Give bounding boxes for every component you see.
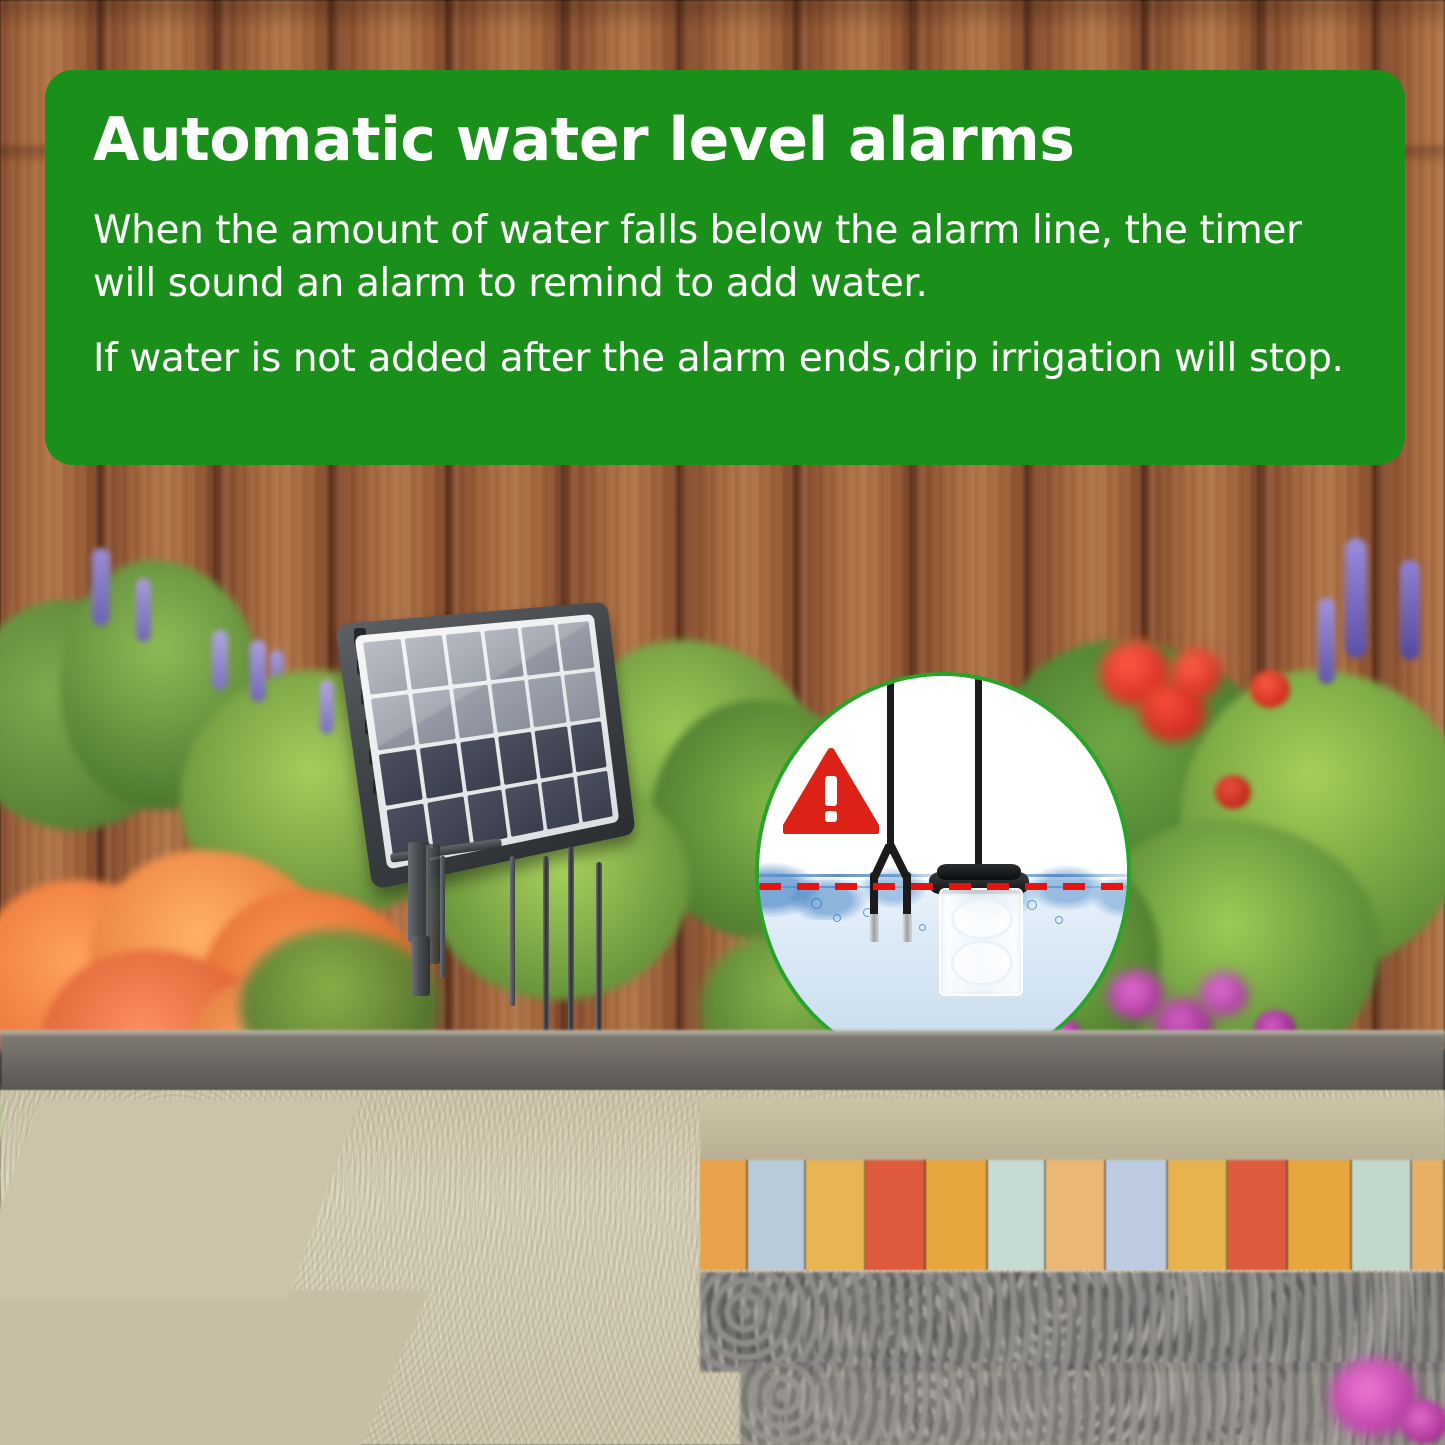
banner-paragraph-1: When the amount of water falls below the… xyxy=(93,204,1357,310)
alarm-line xyxy=(759,883,1127,890)
solar-panel xyxy=(330,606,670,906)
page-title: Automatic water level alarms xyxy=(93,110,1357,170)
product-marketing-image: Automatic water level alarms When the am… xyxy=(0,0,1445,1445)
decorative-tile-edging xyxy=(700,1158,1445,1270)
paving-band xyxy=(700,1098,1445,1160)
corner-flower xyxy=(1400,1400,1445,1444)
pump-intake-hole xyxy=(951,898,1013,940)
sensor-prong xyxy=(870,872,878,918)
sensor-prong xyxy=(903,872,911,918)
banner-paragraph-2: If water is not added after the alarm en… xyxy=(93,332,1357,385)
pump-cap-inner xyxy=(937,864,1021,880)
sensor-probe-cable xyxy=(887,676,894,854)
gravel-strip xyxy=(700,1272,1445,1372)
warning-triangle-icon xyxy=(783,748,879,834)
water-level-alarm-detail xyxy=(755,672,1131,1073)
pump-intake-hole xyxy=(951,940,1013,986)
fence-top-shadow xyxy=(0,0,1445,30)
sensor-prong-tip xyxy=(869,914,879,942)
sensor-prong-tip xyxy=(902,914,912,942)
pump-cable xyxy=(975,676,982,882)
headline-banner: Automatic water level alarms When the am… xyxy=(45,70,1405,465)
